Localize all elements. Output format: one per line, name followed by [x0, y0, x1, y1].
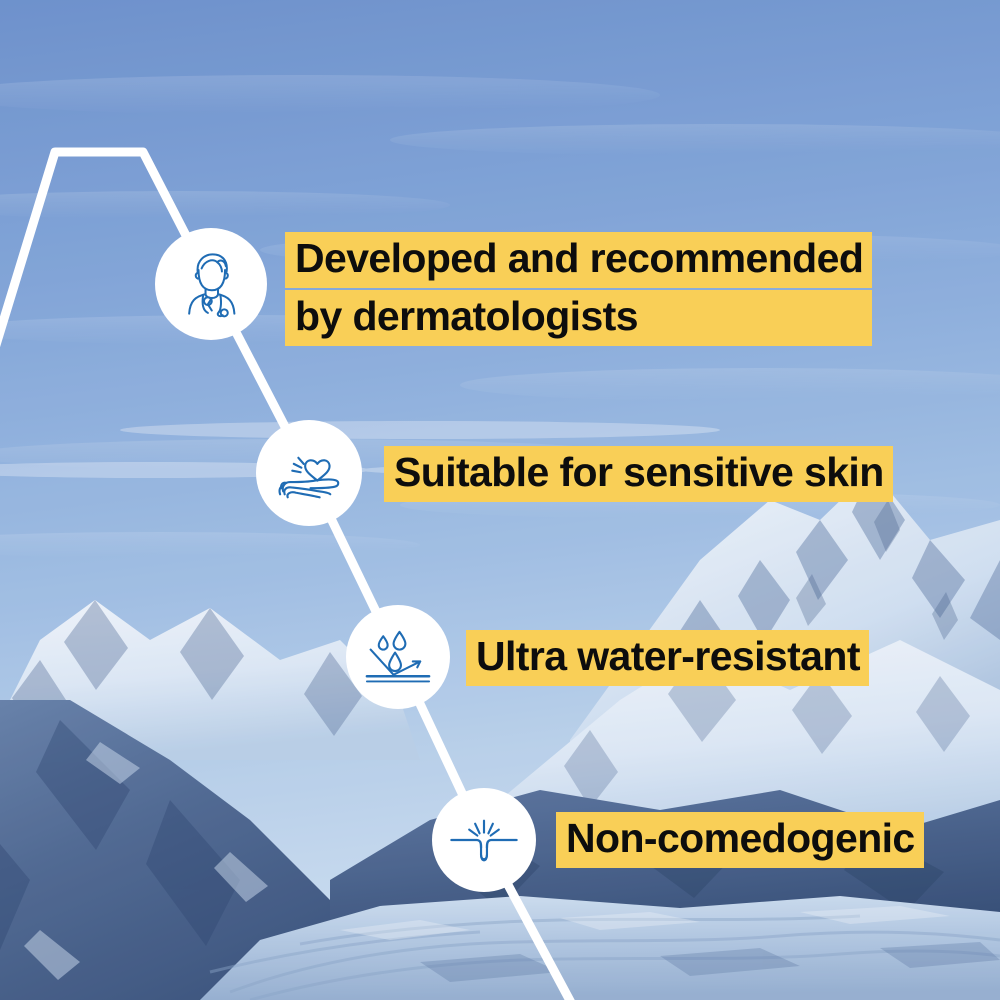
hand-heart-icon	[271, 435, 347, 511]
feature-label-water-resistant: Ultra water-resistant	[466, 630, 869, 686]
feature-label-line: Developed and recommended	[285, 232, 872, 288]
doctor-stethoscope-icon	[172, 245, 250, 323]
feature-label-non-comedogenic: Non-comedogenic	[556, 812, 924, 868]
feature-label-line: Non-comedogenic	[556, 812, 924, 868]
feature-badge-dermatologists[interactable]	[155, 228, 267, 340]
water-droplets-repellent-icon	[361, 620, 435, 694]
skin-pore-follicle-icon	[447, 803, 521, 877]
feature-label-line: by dermatologists	[285, 290, 872, 346]
feature-label-line: Suitable for sensitive skin	[384, 446, 893, 502]
feature-badge-non-comedogenic[interactable]	[432, 788, 536, 892]
feature-badge-sensitive-skin[interactable]	[256, 420, 362, 526]
feature-label-sensitive-skin: Suitable for sensitive skin	[384, 446, 893, 502]
feature-label-line: Ultra water-resistant	[466, 630, 869, 686]
feature-label-dermatologists: Developed and recommended by dermatologi…	[285, 232, 872, 346]
feature-badge-water-resistant[interactable]	[346, 605, 450, 709]
promo-infographic: Developed and recommended by dermatologi…	[0, 0, 1000, 1000]
